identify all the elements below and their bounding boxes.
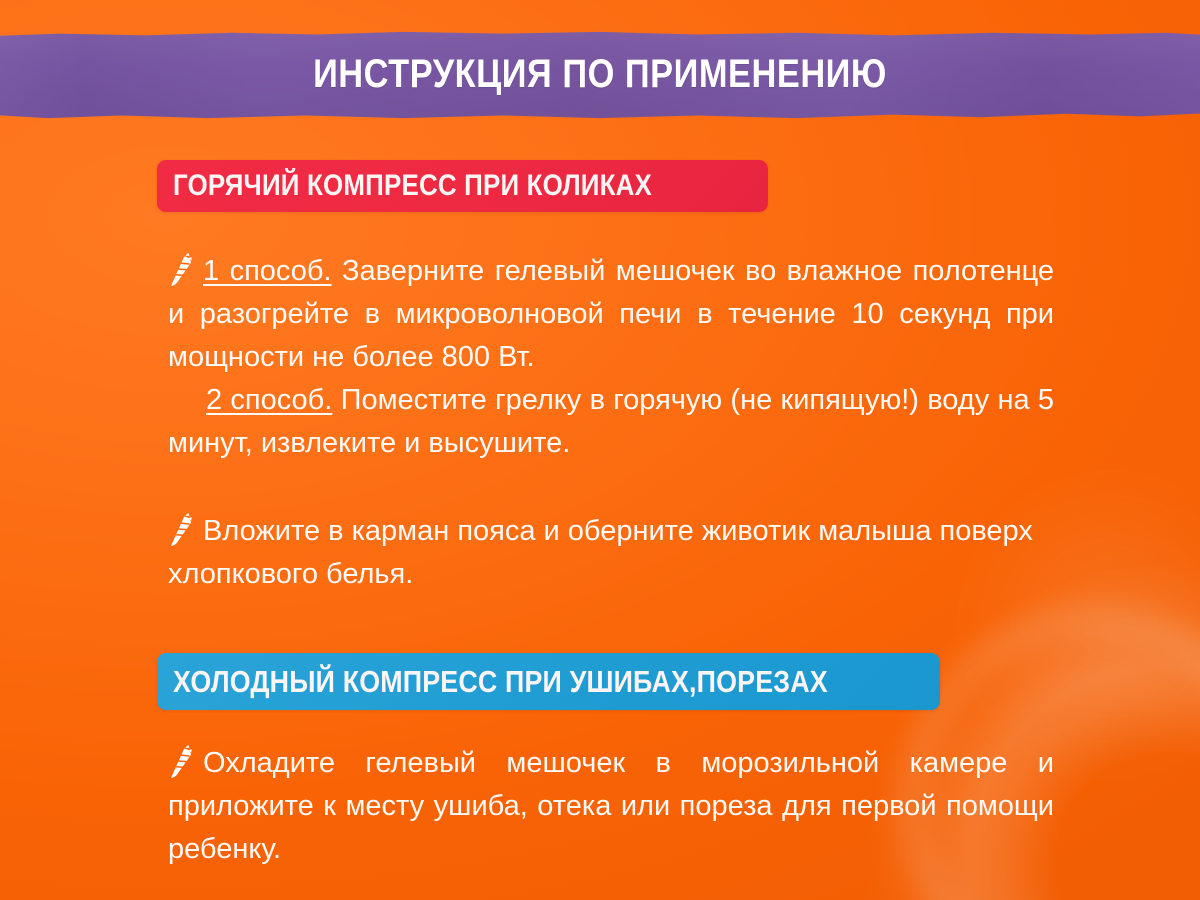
method-2-label: 2 способ. [206, 384, 332, 416]
carrot-icon [168, 744, 194, 778]
paragraph-hot-usage-text: Вложите в карман пояса и оберните животи… [168, 515, 1033, 590]
carrot-icon [168, 512, 194, 546]
section-heading-hot-compress: ГОРЯЧИЙ КОМПРЕСС ПРИ КОЛИКАХ [157, 160, 768, 212]
paragraph-hot-usage: Вложите в карман пояса и оберните животи… [168, 510, 1054, 596]
section-heading-cold-compress-label: ХОЛОДНЫЙ КОМПРЕСС ПРИ УШИБАХ,ПОРЕЗАХ [173, 664, 828, 700]
paragraph-cold-usage-text: Охладите гелевый мешочек в морозильной к… [168, 747, 1054, 865]
paragraph-hot-methods: 1 способ. Заверните гелевый мешочек во в… [168, 250, 1054, 465]
method-2-line: 2 способ. Поместите грелку в горячую (не… [168, 379, 1054, 465]
content-area: ГОРЯЧИЙ КОМПРЕСС ПРИ КОЛИКАХ 1 спос [0, 0, 1200, 900]
section-heading-hot-compress-label: ГОРЯЧИЙ КОМПРЕСС ПРИ КОЛИКАХ [173, 169, 652, 203]
carrot-icon [168, 252, 194, 286]
paragraph-cold-usage: Охладите гелевый мешочек в морозильной к… [168, 742, 1054, 871]
section-heading-cold-compress: ХОЛОДНЫЙ КОМПРЕСС ПРИ УШИБАХ,ПОРЕЗАХ [157, 653, 940, 710]
method-1-label: 1 способ. [203, 255, 332, 287]
slide-canvas: ИНСТРУКЦИЯ ПО ПРИМЕНЕНИЮ ГОРЯЧИЙ КОМПРЕС… [0, 0, 1200, 900]
